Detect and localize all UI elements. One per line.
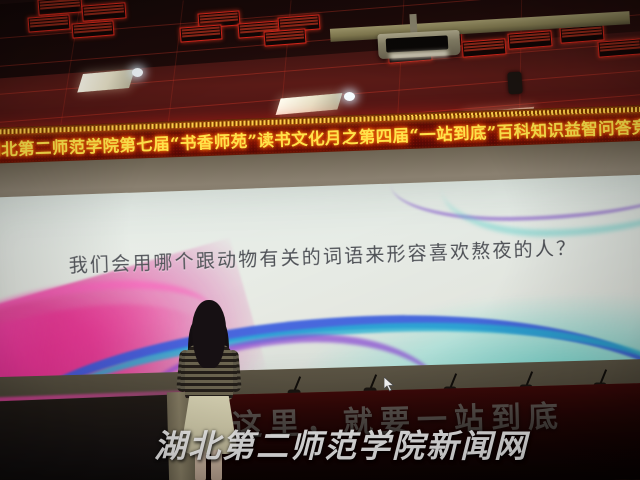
ceiling-vent — [81, 2, 126, 21]
ceiling-vent — [507, 30, 552, 49]
ceiling-vent — [461, 38, 506, 57]
skirt — [180, 396, 238, 454]
screen-graphic-cyan-top — [441, 186, 640, 237]
hair — [192, 300, 226, 368]
ceiling-bulb — [132, 68, 143, 77]
screenshot-root: 湖北第二师范学院第七届“书香师苑”读书文化月之第四届“一站到底”百科知识益智问答… — [0, 0, 640, 480]
ceiling-bulb — [344, 92, 355, 101]
leg-right — [211, 450, 222, 480]
standing-contestant — [170, 300, 250, 480]
ceiling-light-panel — [77, 69, 134, 92]
mouse-pointer-icon — [384, 377, 395, 392]
ceiling-camera — [507, 72, 523, 95]
ceiling-vent — [597, 38, 640, 57]
ceiling-light-panel — [276, 93, 343, 115]
leg-left — [195, 450, 206, 480]
screen-question-text: 我们会用哪个跟动物有关的词语来形容喜欢熬夜的人？ — [0, 230, 640, 281]
